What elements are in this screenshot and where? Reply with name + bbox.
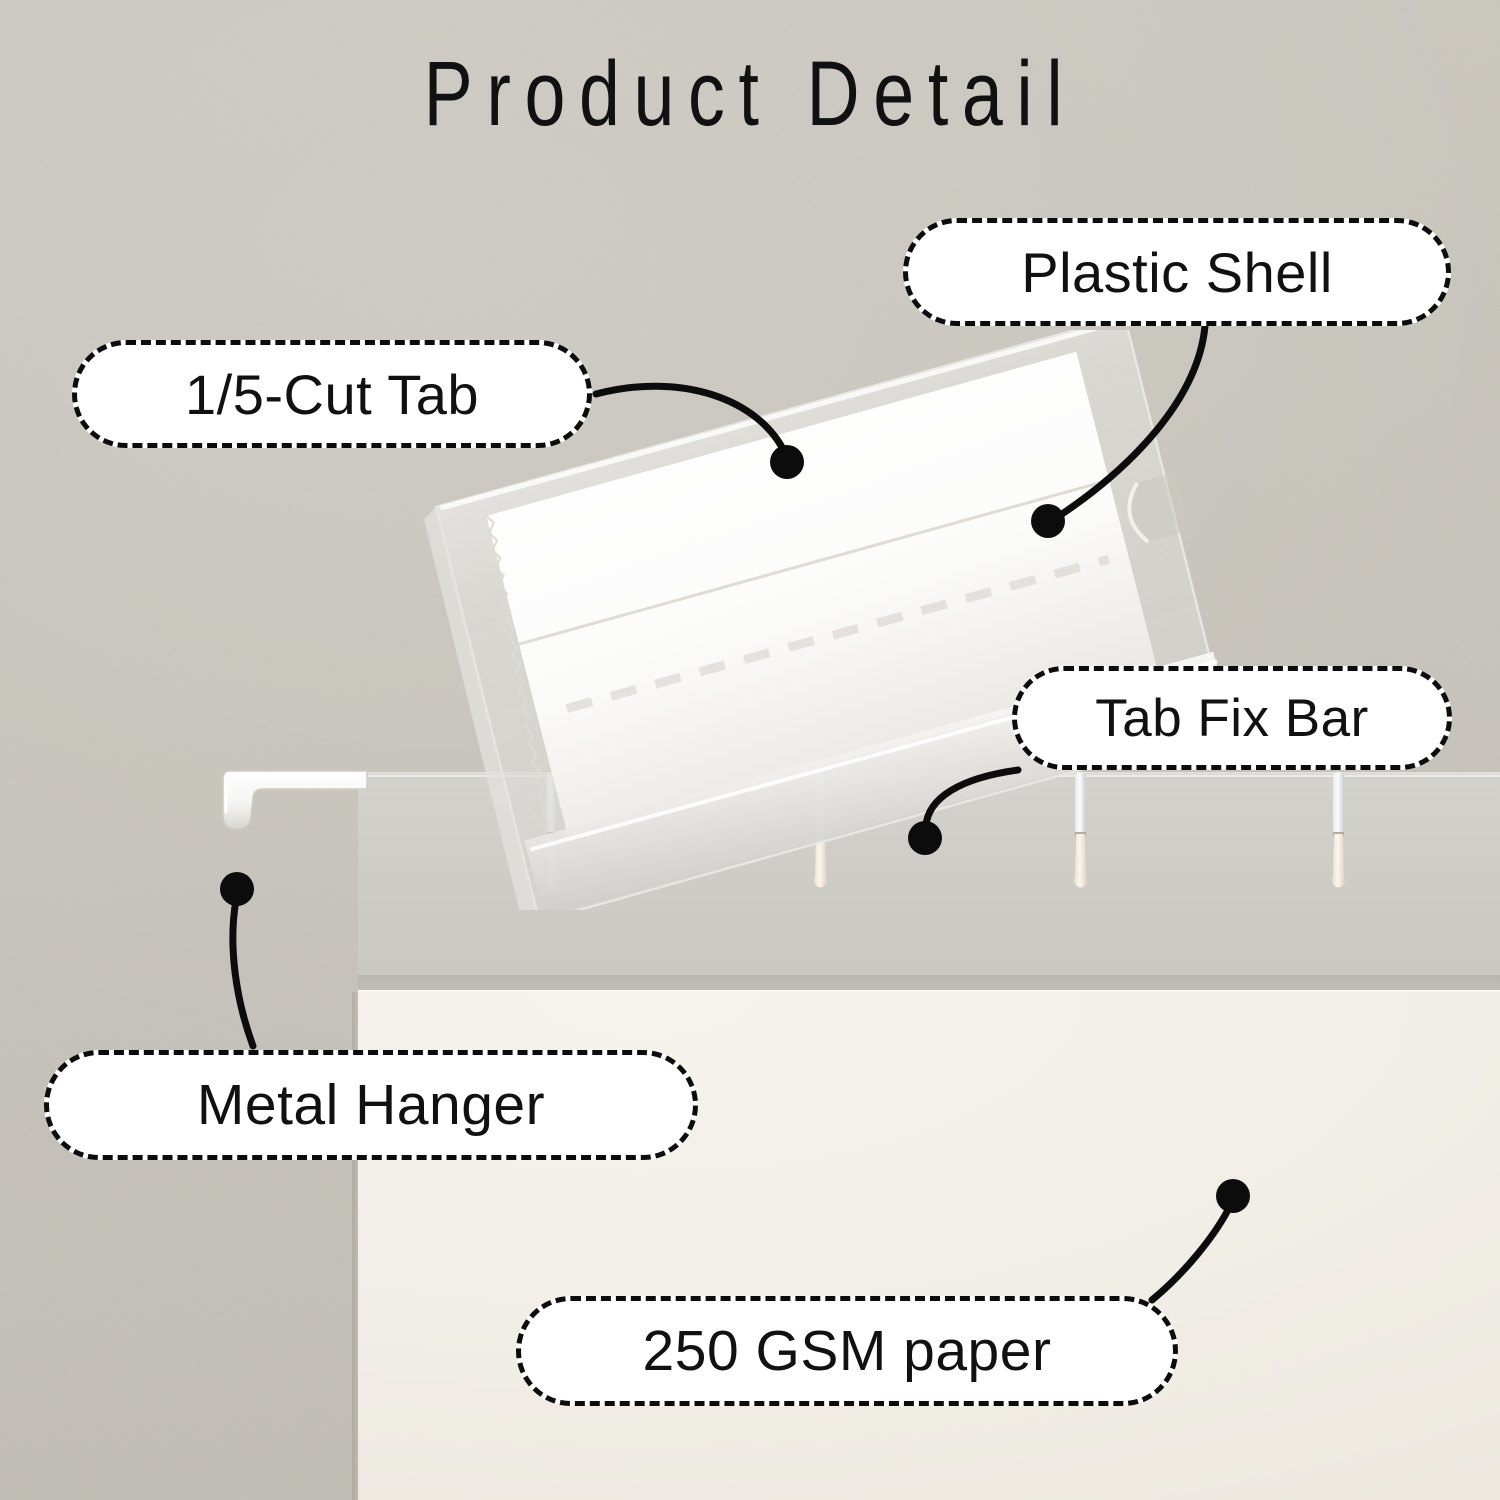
callout-label: 250 GSM paper (643, 1318, 1052, 1384)
callout-one-fifth-cut-tab[interactable]: 1/5-Cut Tab (72, 340, 592, 448)
callout-tab-fix-bar[interactable]: Tab Fix Bar (1012, 666, 1452, 770)
callout-metal-hanger[interactable]: Metal Hanger (44, 1050, 698, 1160)
callout-label: Metal Hanger (197, 1072, 545, 1138)
callout-label: 1/5-Cut Tab (185, 362, 479, 427)
callout-plastic-shell[interactable]: Plastic Shell (903, 218, 1451, 326)
metal-hanger-hook (215, 757, 375, 847)
callout-label: Plastic Shell (1021, 240, 1333, 305)
tab-fix-bar-pin (1328, 772, 1350, 907)
page-title: Product Detail (150, 42, 1350, 147)
callout-label: Tab Fix Bar (1095, 688, 1369, 749)
product-detail-infographic: Product Detail 1/5-Cut Tab Plastic Shell… (0, 0, 1500, 1500)
callout-gsm-paper[interactable]: 250 GSM paper (516, 1296, 1178, 1406)
